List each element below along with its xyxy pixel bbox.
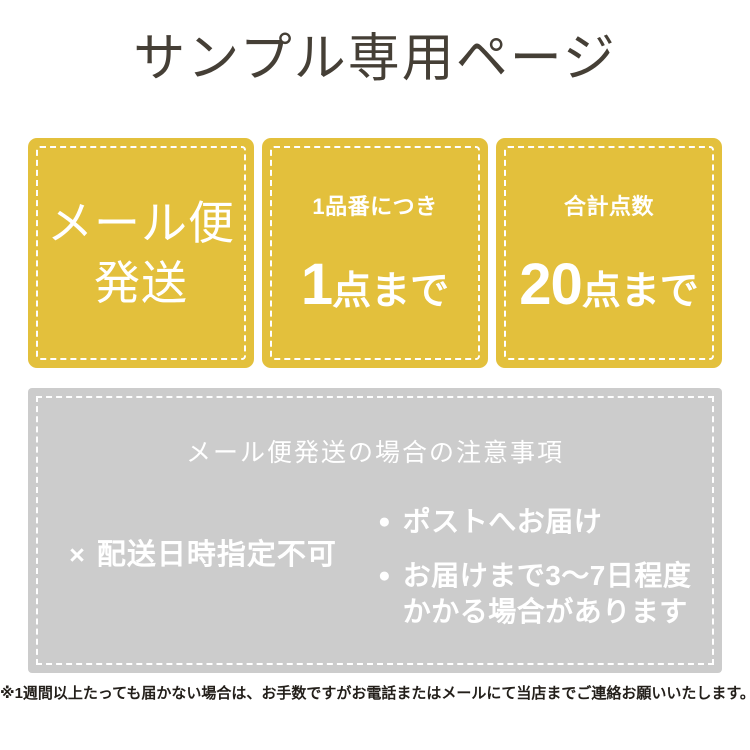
card-total-limit-caption: 合計点数 (564, 194, 654, 220)
card-total-limit: 合計点数 20 点まで (496, 138, 722, 368)
card-per-item-limit-caption: 1品番につき (312, 194, 437, 220)
card-per-item-limit-unit: 点まで (332, 263, 449, 321)
card-per-item-limit-value: 1 点まで (301, 256, 449, 321)
card-shipping-method-line1: メール便 (47, 193, 235, 253)
info-cards-row: メール便 発送 1品番につき 1 点まで 合計点数 20 点まで (28, 138, 722, 368)
notice-bullet-0-line1: ポストへお届け (403, 506, 603, 537)
card-total-limit-unit: 点まで (582, 263, 699, 321)
notice-bullet-item: ● お届けまで3〜7日程度 かかる場合があります (378, 558, 722, 630)
notice-panel: メール便発送の場合の注意事項 × 配送日時指定不可 ● ポストへお届け ● お届… (28, 388, 722, 673)
card-shipping-method-content: メール便 発送 (28, 138, 254, 368)
notice-body: × 配送日時指定不可 ● ポストへお届け ● お届けまで3〜7日程度 かかる場合… (28, 500, 722, 660)
page-title: サンプル専用ページ (0, 28, 750, 90)
bullet-dot-icon: ● (378, 558, 391, 594)
card-per-item-limit: 1品番につき 1 点まで (262, 138, 488, 368)
card-total-limit-content: 合計点数 20 点まで (496, 138, 722, 368)
notice-bullet-item: ● ポストへお届け (378, 504, 722, 540)
notice-right-column: ● ポストへお届け ● お届けまで3〜7日程度 かかる場合があります (378, 500, 722, 648)
notice-bullet-1-line2: かかる場合があります (403, 596, 688, 627)
notice-no-delivery-time-text: 配送日時指定不可 (97, 538, 337, 572)
cross-mark-icon: × (69, 540, 85, 571)
notice-bullet-1-line1: お届けまで3〜7日程度 (403, 560, 692, 591)
card-shipping-method-line2: 発送 (94, 253, 188, 313)
bullet-dot-icon: ● (378, 504, 391, 540)
card-total-limit-number: 20 (519, 256, 582, 314)
card-per-item-limit-content: 1品番につき 1 点まで (262, 138, 488, 368)
card-total-limit-value: 20 点まで (519, 256, 699, 321)
notice-heading: メール便発送の場合の注意事項 (28, 438, 722, 468)
sample-shipping-info-page: サンプル専用ページ メール便 発送 1品番につき 1 点まで (0, 0, 750, 750)
card-per-item-limit-number: 1 (301, 256, 332, 314)
footer-note: ※1週間以上たっても届かない場合は、お手数ですがお電話またはメールにて当店までご… (0, 684, 750, 704)
notice-left-column: × 配送日時指定不可 (28, 500, 378, 572)
card-shipping-method: メール便 発送 (28, 138, 254, 368)
